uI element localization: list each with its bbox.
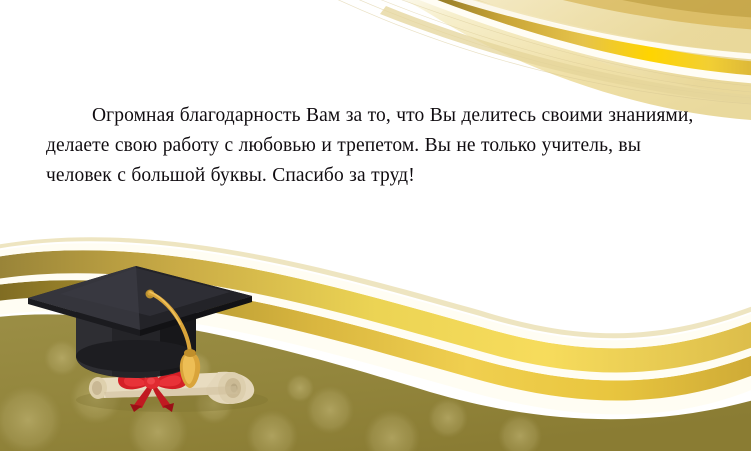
greeting-card: Огромная благодарность Вам за то, что Вы…	[0, 0, 751, 451]
card-message-text: Огромная благодарность Вам за то, что Вы…	[46, 101, 712, 191]
decorative-background	[0, 0, 751, 451]
